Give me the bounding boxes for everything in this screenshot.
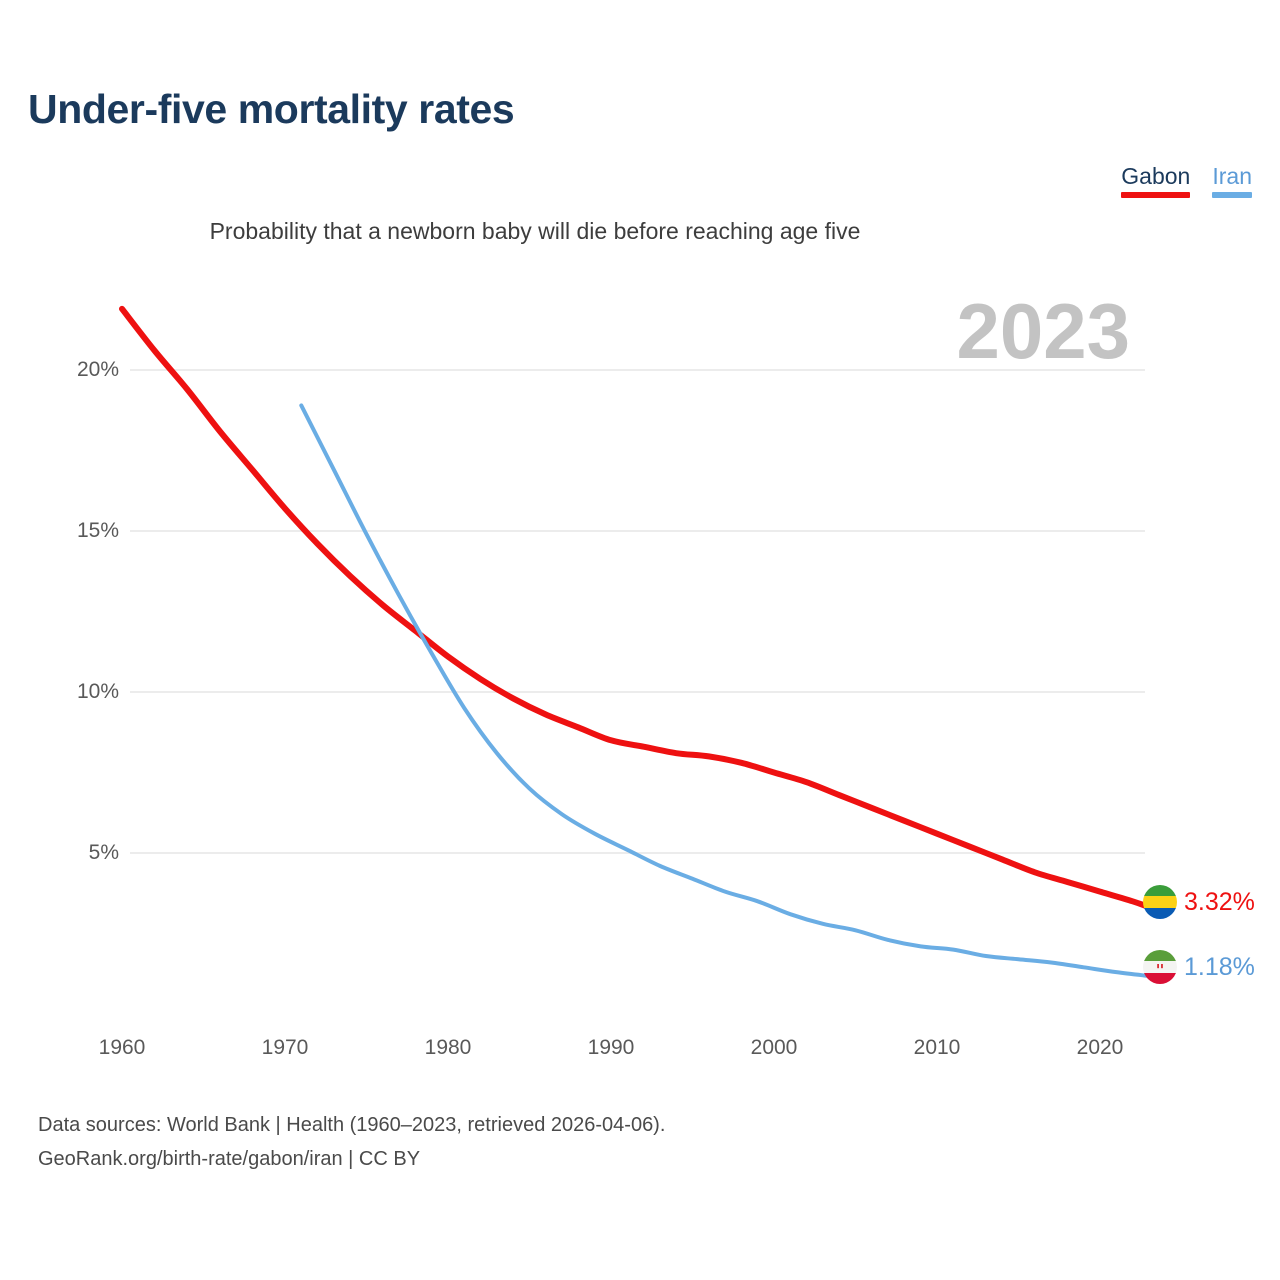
x-tick-2010: 2010 <box>892 1036 982 1060</box>
y-tick-20: 20% <box>24 358 119 382</box>
x-tick-2020: 2020 <box>1055 1036 1145 1060</box>
end-value-gabon: 3.32% <box>1184 888 1255 917</box>
end-label-gabon[interactable]: 3.32% <box>1143 885 1255 919</box>
end-label-iran[interactable]: יי 1.18% <box>1143 950 1255 984</box>
legend-swatch-gabon <box>1121 192 1190 198</box>
x-tick-2000: 2000 <box>729 1036 819 1060</box>
plot-svg <box>0 0 1280 1280</box>
year-watermark: 2023 <box>956 292 1130 370</box>
x-tick-1980: 1980 <box>403 1036 493 1060</box>
x-tick-1970: 1970 <box>240 1036 330 1060</box>
legend-swatch-iran <box>1212 192 1252 198</box>
series-lines <box>122 309 1149 976</box>
y-tick-15: 15% <box>24 519 119 543</box>
plot-area <box>0 0 1280 1280</box>
x-tick-1960: 1960 <box>77 1036 167 1060</box>
end-value-iran: 1.18% <box>1184 953 1255 982</box>
y-tick-5: 5% <box>24 841 119 865</box>
page-title: Under-five mortality rates <box>28 86 514 133</box>
gabon-flag-icon <box>1143 885 1177 919</box>
legend-label-iran: Iran <box>1212 163 1252 189</box>
iran-emblem-icon: יי <box>1143 961 1177 973</box>
legend-label-gabon: Gabon <box>1121 163 1190 189</box>
iran-flag-icon: יי <box>1143 950 1177 984</box>
series-line-iran <box>301 405 1149 976</box>
legend-item-gabon[interactable]: Gabon <box>1121 163 1190 198</box>
x-tick-1990: 1990 <box>566 1036 656 1060</box>
y-tick-10: 10% <box>24 680 119 704</box>
footer: Data sources: World Bank | Health (1960–… <box>38 1108 665 1176</box>
chart-page: Under-five mortality rates Gabon Iran Pr… <box>0 0 1280 1280</box>
footer-data-sources: Data sources: World Bank | Health (1960–… <box>38 1108 665 1142</box>
chart-subtitle: Probability that a newborn baby will die… <box>0 218 1280 245</box>
legend-item-iran[interactable]: Iran <box>1212 163 1252 198</box>
legend: Gabon Iran <box>1121 163 1252 198</box>
gridlines <box>130 370 1145 853</box>
series-line-gabon <box>122 309 1149 907</box>
footer-attribution: GeoRank.org/birth-rate/gabon/iran | CC B… <box>38 1142 665 1176</box>
